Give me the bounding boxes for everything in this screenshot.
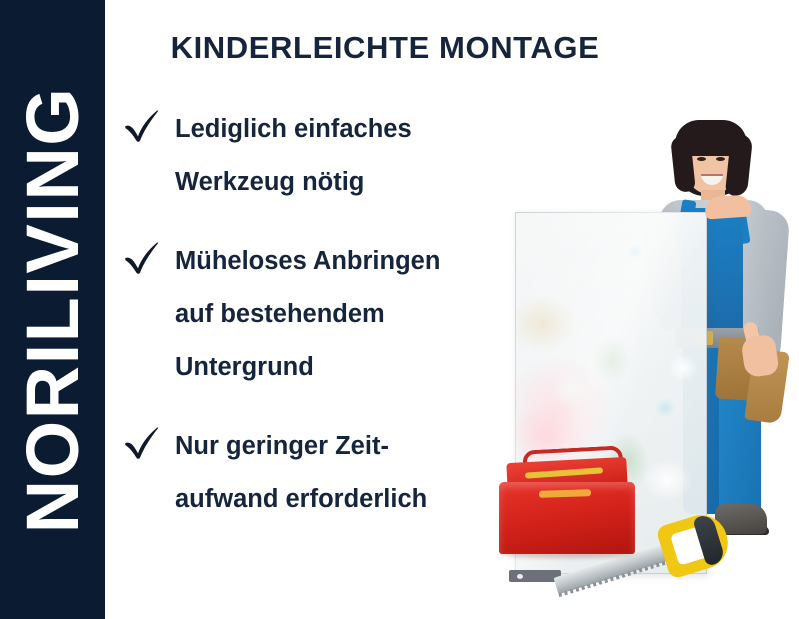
- brand-name: NORILIVING: [16, 86, 90, 533]
- list-item: Müheloses Anbringen auf bestehendem Unte…: [119, 235, 519, 394]
- check-icon: [123, 241, 165, 275]
- list-item-line: Nur geringer Zeit-: [175, 420, 519, 473]
- tool-box: [499, 440, 651, 568]
- page-title: KINDERLEICHTE MONTAGE: [105, 30, 665, 66]
- list-item: Lediglich einfaches Werkzeug nötig: [119, 103, 519, 209]
- list-item-line: Werkzeug nötig: [175, 156, 519, 209]
- list-item-line: Untergrund: [175, 341, 519, 394]
- worker-supporting-hand: [704, 194, 751, 219]
- content-area: KINDERLEICHTE MONTAGE Lediglich einfache…: [105, 0, 799, 619]
- check-icon: [123, 426, 165, 460]
- check-icon: [123, 109, 165, 143]
- list-item-text: Nur geringer Zeit- aufwand erforderlich: [175, 420, 519, 526]
- list-item-text: Müheloses Anbringen auf bestehendem Unte…: [175, 235, 519, 394]
- worker-eye-left: [697, 157, 706, 161]
- worker-eye-right: [716, 157, 725, 161]
- list-item-line: auf bestehendem: [175, 288, 519, 341]
- list-item-line: Müheloses Anbringen: [175, 235, 519, 288]
- benefit-list: Lediglich einfaches Werkzeug nötig Mühel…: [119, 103, 519, 526]
- list-item: Nur geringer Zeit- aufwand erforderlich: [119, 420, 519, 526]
- brand-sidebar: NORILIVING: [0, 0, 105, 619]
- worker-thumbs-up-hand: [740, 334, 779, 378]
- list-item-text: Lediglich einfaches Werkzeug nötig: [175, 103, 519, 209]
- product-photo: [495, 100, 799, 619]
- list-item-line: Lediglich einfaches: [175, 103, 519, 156]
- list-item-line: aufwand erforderlich: [175, 473, 519, 526]
- promo-banner: NORILIVING KINDERLEICHTE MONTAGE Ledigli…: [0, 0, 799, 619]
